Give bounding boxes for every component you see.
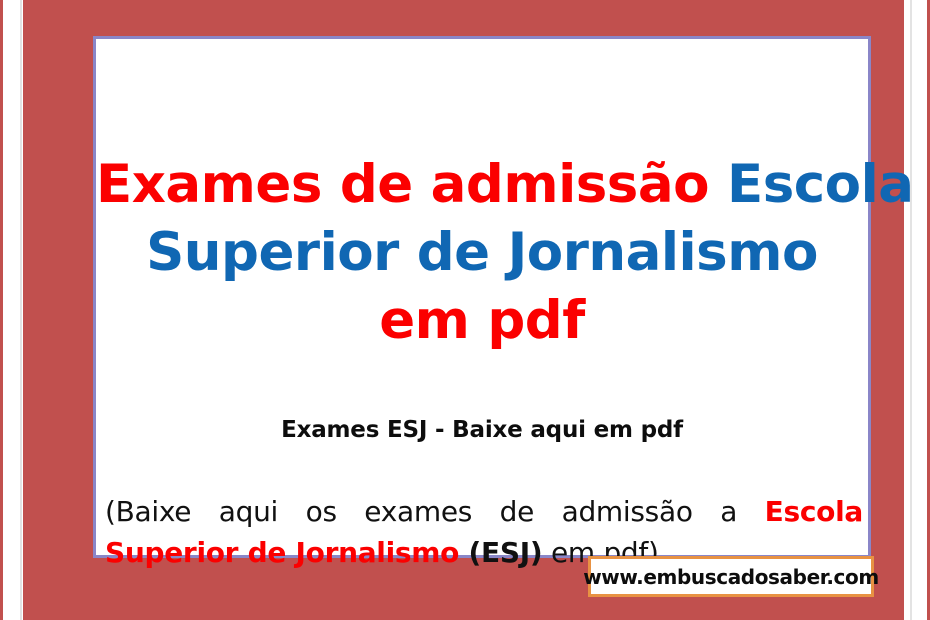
body-text-part-1: (Baixe aqui os exames de admissão a [105, 495, 765, 528]
headline-line-1: Exames de admissão Escola [96, 151, 868, 219]
headline-line-1-red-text: Exames de admissão [96, 154, 727, 215]
headline-line-3: em pdf [96, 287, 868, 355]
right-guide-line [910, 0, 912, 620]
left-edge-sliver [0, 0, 3, 620]
watermark-url-text: www.embuscadosaber.com [583, 565, 879, 589]
white-content-card: Exames de admissão Escola Superior de Jo… [93, 36, 871, 558]
watermark-badge: www.embuscadosaber.com [588, 556, 874, 597]
headline-block: Exames de admissão Escola Superior de Jo… [96, 151, 868, 355]
left-guide-line [20, 0, 22, 620]
subtitle-text: Exames ESJ - Baixe aqui em pdf [96, 417, 868, 443]
headline-line-2: Superior de Jornalismo [96, 219, 868, 287]
body-text-acronym: (ESJ) [459, 536, 542, 569]
headline-line-1-blue-text: Escola [727, 154, 914, 215]
poster-screenshot: Exames de admissão Escola Superior de Jo… [0, 0, 930, 620]
red-frame-border: Exames de admissão Escola Superior de Jo… [23, 0, 904, 620]
